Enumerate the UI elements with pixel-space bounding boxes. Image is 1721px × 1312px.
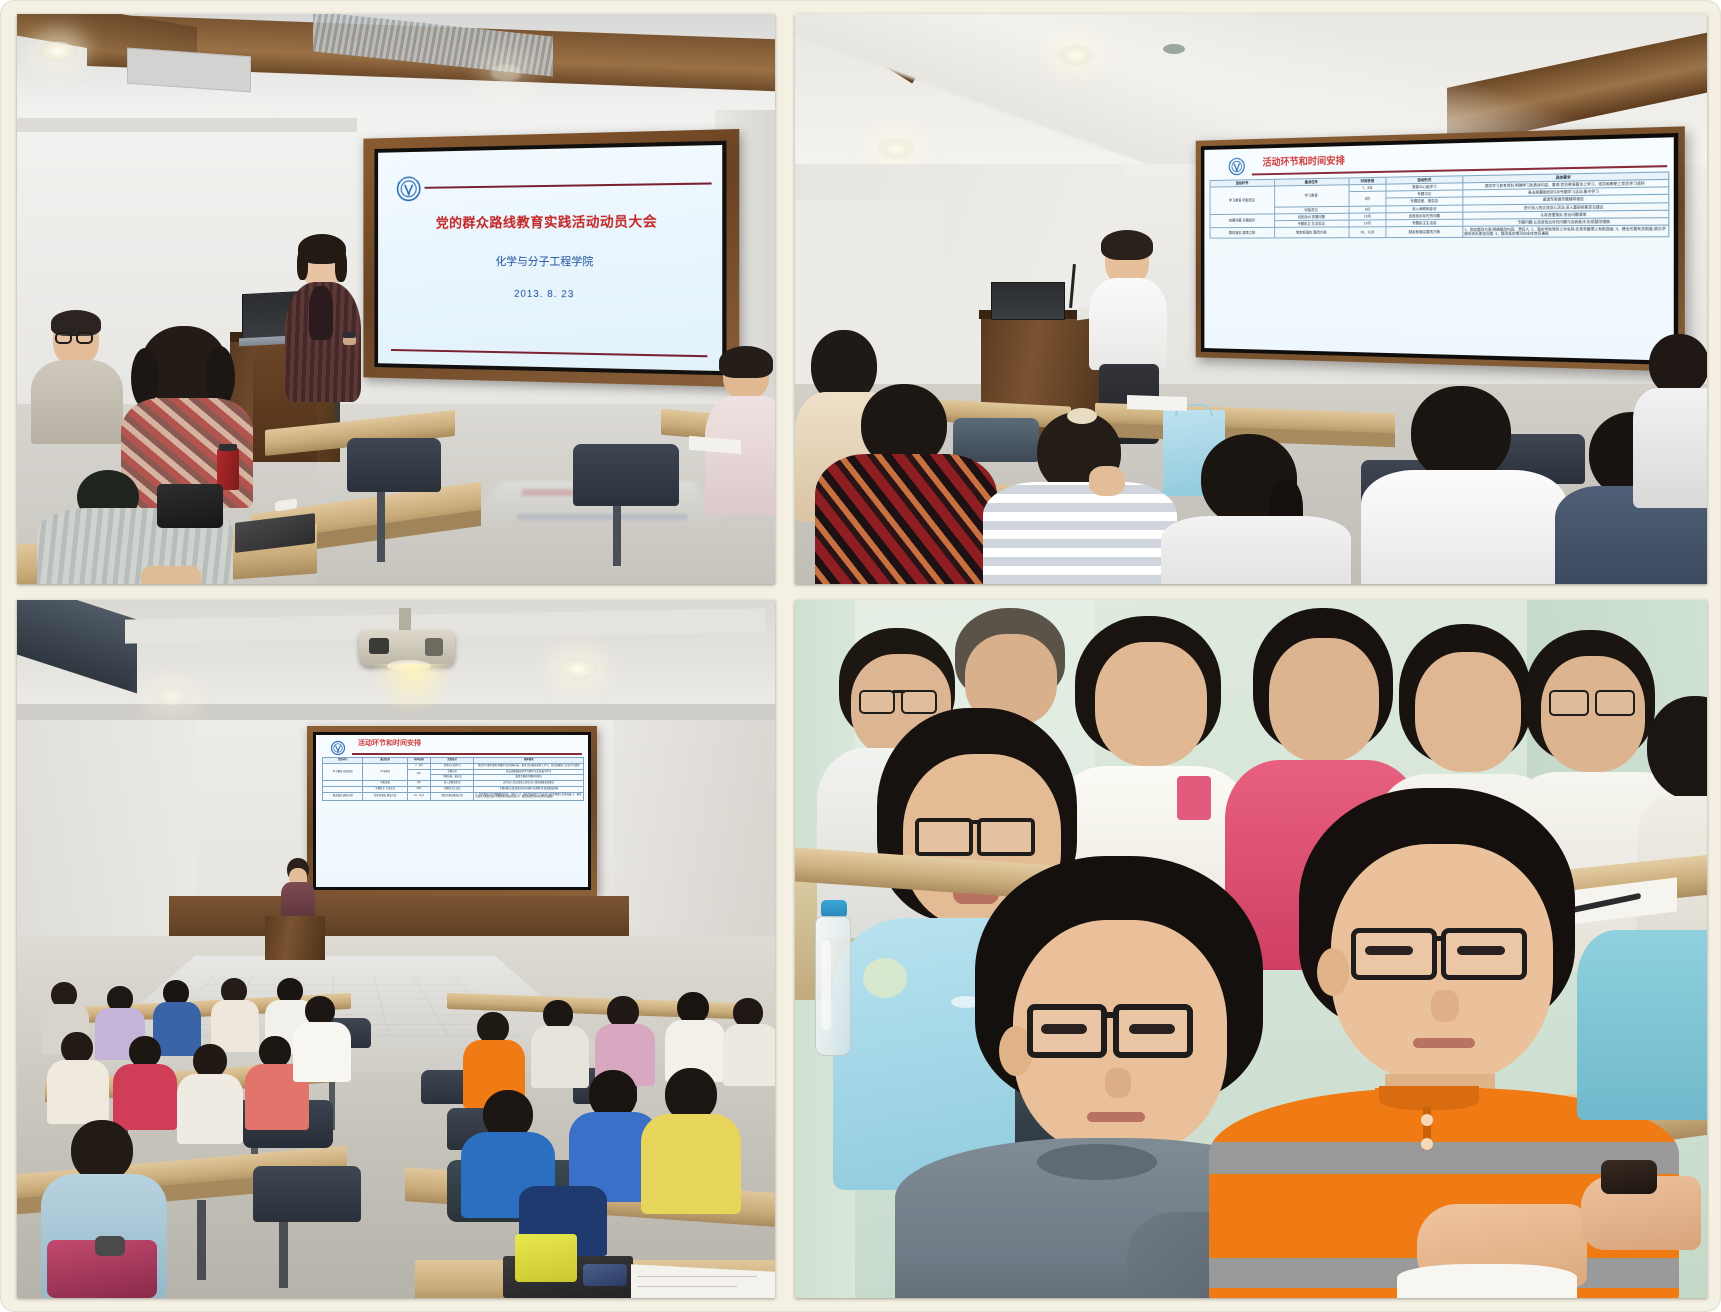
paper-sheet — [1397, 1264, 1577, 1298]
table-cell: 制定和落实整改方案 — [430, 792, 473, 801]
table-cell: 学习教育 — [1274, 185, 1348, 207]
table-cell: 整改落实 建章立制 — [1210, 227, 1274, 238]
ceiling-light-icon — [1057, 44, 1095, 66]
slide-date: 2013. 8. 23 — [378, 288, 722, 302]
university-emblem-icon — [1225, 153, 1248, 178]
table-cell: 1、制定整改方案,明确整改内容、责任人; 2、落实学校党的工作安排,在党务管理上… — [474, 792, 584, 801]
collage-panel-bottom-right[interactable] — [795, 600, 1707, 1298]
laptop — [991, 282, 1065, 320]
attendee — [31, 310, 117, 440]
table-cell: 制定和落实 整改方案 — [363, 792, 408, 801]
collage-panel-bottom-left[interactable]: 活动环节和时间安排 活动环节 重点任务 时间安排 活动形式 具体要求 学习教 — [17, 600, 775, 1298]
slide-title: 活动环节和时间安排 — [358, 738, 421, 748]
collage-panel-top-right[interactable]: 活动环节和时间安排 活动环节 重点任务 时间安排 活动形式 具体要求 学习教 — [795, 14, 1707, 584]
eyeglasses — [977, 818, 1035, 856]
attendee — [705, 350, 775, 520]
photo-top-right: 活动环节和时间安排 活动环节 重点任务 时间安排 活动形式 具体要求 学习教 — [795, 14, 1707, 584]
projection-screen-frame: 活动环节和时间安排 活动环节 重点任务 时间安排 活动形式 具体要求 学习教 — [307, 726, 597, 896]
ceiling-light-icon — [877, 138, 915, 160]
table-cell: 制定和落实 整改方案 — [1274, 227, 1348, 238]
table-row: 整改落实 建章立制 制定和落实 整改方案 10、11月 制定和落实整改方案 1、… — [1210, 225, 1669, 238]
schedule-table-slide: 活动环节和时间安排 活动环节 重点任务 时间安排 活动形式 具体要求 学习教 — [316, 735, 588, 887]
table-cell: 8月 — [408, 769, 431, 781]
smoke-detector-icon — [1163, 44, 1185, 54]
attendee — [1161, 434, 1351, 584]
table-cell: 10、11月 — [408, 792, 431, 801]
photo-collage: 党的群众路线教育实践活动动员大会 化学与分子工程学院 2013. 8. 23 — [0, 0, 1721, 1312]
attendee — [1361, 386, 1561, 584]
table-cell: 制定和落实整改方案 — [1386, 226, 1463, 238]
title-slide: 党的群众路线教育实践活动动员大会 化学与分子工程学院 2013. 8. 23 — [378, 145, 722, 371]
chair — [347, 438, 441, 492]
attendee — [641, 1068, 737, 1208]
presenter — [279, 232, 365, 402]
ceiling-light-icon — [559, 658, 597, 680]
table-row: 整改落实 建章立制 制定和落实 整改方案 10、11月 制定和落实整改方案 1、… — [323, 792, 584, 801]
table-cell: 1、制定整改方案,明确整改内容、责任人; 2、落实学校党的工作安排,在党务管理上… — [1463, 225, 1669, 238]
collage-panel-top-left[interactable]: 党的群众路线教育实践活动动员大会 化学与分子工程学院 2013. 8. 23 — [17, 14, 775, 584]
chair — [573, 444, 679, 506]
chair — [253, 1166, 361, 1222]
slide-title: 党的群众路线教育实践活动动员大会 — [378, 209, 722, 232]
table-cell: 查摆问题 开展批评 — [1210, 214, 1274, 228]
schedule-table: 活动环节 重点任务 时间安排 活动形式 具体要求 学习教育 听取意见 学习教育 … — [322, 757, 584, 801]
attendee — [177, 1044, 239, 1140]
wristwatch — [1601, 1160, 1657, 1194]
yellow-pouch — [515, 1234, 577, 1282]
ceiling-light-icon — [39, 40, 77, 62]
photo-top-left: 党的群众路线教育实践活动动员大会 化学与分子工程学院 2013. 8. 23 — [17, 14, 775, 584]
slide-subtitle: 化学与分子工程学院 — [378, 253, 722, 270]
photo-bottom-left: 活动环节和时间安排 活动环节 重点任务 时间安排 活动形式 具体要求 学习教 — [17, 600, 775, 1298]
podium — [265, 916, 325, 960]
university-emblem-icon — [393, 171, 425, 205]
ceiling-light-icon — [153, 686, 191, 708]
photo-bottom-right — [795, 600, 1707, 1298]
attendee — [983, 412, 1173, 584]
table-cell: 学习教育 听取意见 — [1210, 186, 1274, 214]
attendee — [47, 1032, 105, 1120]
keys — [583, 1264, 627, 1286]
table-cell: 学习教育 — [363, 763, 408, 780]
table-cell: 8月 — [1349, 191, 1387, 206]
hair-clip — [1067, 408, 1097, 424]
table-cell: 学习教育 听取意见 — [323, 763, 363, 780]
schedule-table: 活动环节 重点任务 时间安排 活动形式 具体要求 学习教育 听取意见 学习教育 … — [1210, 171, 1670, 238]
projection-screen-frame: 党的群众路线教育实践活动动员大会 化学与分子工程学院 2013. 8. 23 — [363, 129, 739, 387]
table-cell: 整改落实 建章立制 — [323, 792, 363, 801]
eyeglasses — [915, 818, 973, 856]
eyeglasses — [1595, 690, 1635, 716]
attendee — [113, 1036, 173, 1126]
water-bottle — [807, 900, 867, 1060]
attendee — [293, 996, 347, 1080]
table-cell: 10、11月 — [1349, 227, 1387, 238]
projection-screen-frame: 活动环节和时间安排 活动环节 重点任务 时间安排 活动形式 具体要求 学习教 — [1196, 126, 1685, 371]
ceiling-light-icon — [487, 62, 525, 84]
bag — [157, 484, 223, 528]
attendee — [665, 992, 721, 1080]
university-emblem-icon — [328, 737, 348, 757]
slide-title: 活动环节和时间安排 — [1263, 152, 1345, 168]
eyeglasses — [1549, 690, 1589, 716]
attendee — [1633, 334, 1707, 504]
schedule-table-slide: 活动环节和时间安排 活动环节 重点任务 时间安排 活动形式 具体要求 学习教 — [1204, 137, 1673, 360]
attendee — [815, 384, 995, 584]
